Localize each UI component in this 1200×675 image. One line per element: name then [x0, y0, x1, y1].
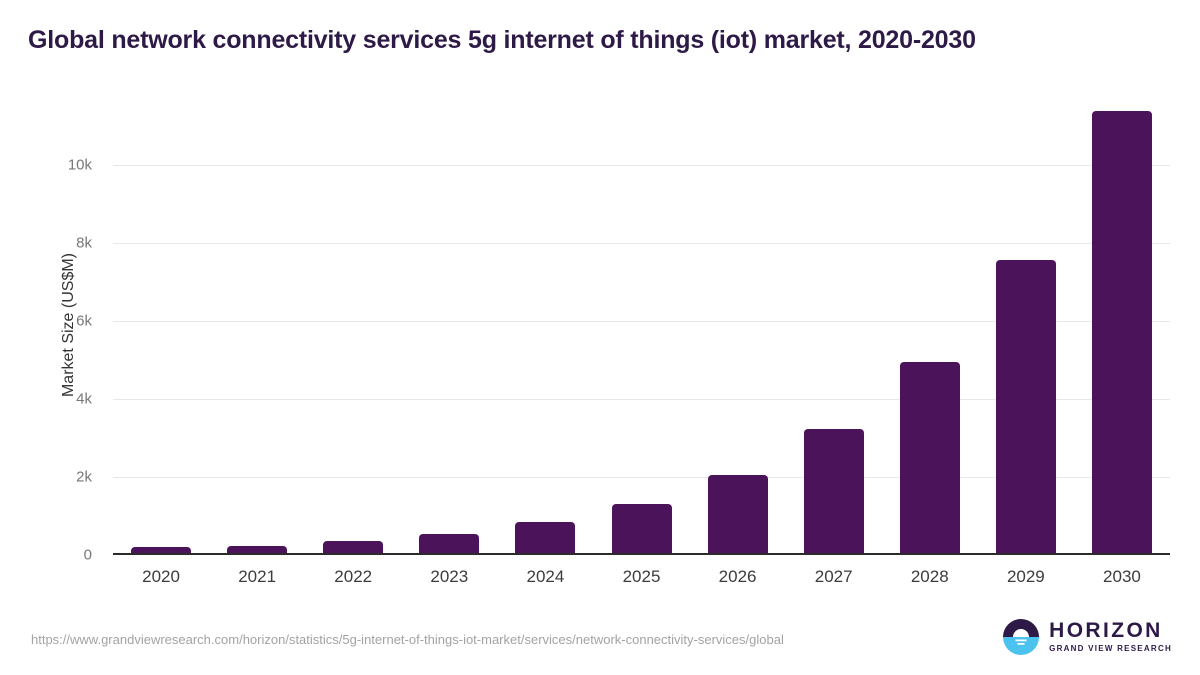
bar-2030[interactable] [1092, 111, 1152, 555]
y-axis-tick-label: 8k [76, 235, 92, 252]
horizon-logo: HORIZON GRAND VIEW RESEARCH [1002, 618, 1172, 656]
y-axis-tick-label: 0 [84, 547, 92, 564]
bar-2026[interactable] [708, 475, 768, 555]
gridline [113, 165, 1170, 166]
chart-page: Global network connectivity services 5g … [0, 0, 1200, 675]
x-axis-tick-label: 2030 [1103, 567, 1141, 587]
bar-2024[interactable] [515, 522, 575, 555]
x-axis-tick-label: 2020 [142, 567, 180, 587]
bar-2025[interactable] [612, 504, 672, 555]
x-axis-tick-label: 2024 [526, 567, 564, 587]
x-axis-line [113, 553, 1170, 555]
plot-area: 2020202120222023202420252026202720282029… [113, 95, 1170, 555]
logo-wordmark: HORIZON [1049, 620, 1172, 641]
source-url[interactable]: https://www.grandviewresearch.com/horizo… [31, 630, 911, 649]
x-axis-tick-label: 2029 [1007, 567, 1045, 587]
horizon-sun-logo-icon [1002, 618, 1040, 656]
x-axis-tick-label: 2027 [815, 567, 853, 587]
x-axis-tick-label: 2023 [430, 567, 468, 587]
logo-text: HORIZON GRAND VIEW RESEARCH [1049, 620, 1172, 655]
x-axis-tick-label: 2025 [623, 567, 661, 587]
x-axis-tick-label: 2028 [911, 567, 949, 587]
bar-2027[interactable] [804, 429, 864, 555]
logo-subtitle: GRAND VIEW RESEARCH [1049, 643, 1172, 655]
x-axis-tick-label: 2026 [719, 567, 757, 587]
bar-2028[interactable] [900, 362, 960, 555]
y-axis-tick-label: 2k [76, 469, 92, 486]
y-axis-tick-label: 4k [76, 391, 92, 408]
page-title: Global network connectivity services 5g … [28, 26, 976, 55]
y-axis-tick-label: 10k [68, 157, 92, 174]
bar-2029[interactable] [996, 260, 1056, 555]
x-axis-tick-label: 2022 [334, 567, 372, 587]
bar-2023[interactable] [419, 534, 479, 555]
gridline [113, 243, 1170, 244]
x-axis-tick-label: 2021 [238, 567, 276, 587]
y-axis-tick-label: 6k [76, 313, 92, 330]
y-axis-tick-labels: 02k4k6k8k10k [0, 95, 100, 555]
